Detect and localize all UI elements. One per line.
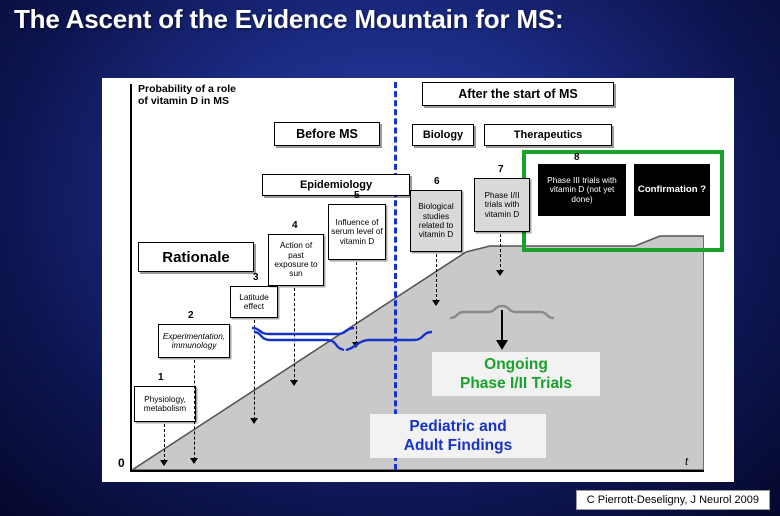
callout-pediatric-adult: Pediatric and Adult Findings	[370, 414, 546, 458]
step-7-connector	[500, 234, 501, 272]
step-2-number: 2	[188, 310, 194, 321]
header-after-ms: After the start of MS	[422, 82, 614, 106]
step-2-arrowhead	[190, 458, 198, 464]
callout-ongoing-line1: Ongoing	[440, 355, 592, 374]
step-7-arrowhead	[496, 270, 504, 276]
header-epidemiology: Epidemiology	[262, 174, 410, 196]
before-after-divider	[394, 82, 397, 470]
step-1-connector	[164, 424, 165, 462]
step-1-number: 1	[158, 372, 164, 383]
step-4-connector	[294, 288, 295, 382]
step-3-box: Latitude effect	[230, 286, 278, 318]
citation-credit: C Pierrott-Deseligny, J Neurol 2009	[576, 490, 770, 510]
step-2-box: Experimentation, immunology	[158, 324, 230, 358]
step-7-box: Phase I/II trials with vitamin D	[474, 178, 530, 232]
step-4-box: Action of past exposure to sun	[268, 234, 324, 286]
step-4-arrowhead	[290, 380, 298, 386]
step-6-arrowhead	[432, 300, 440, 306]
step-6-number: 6	[434, 176, 440, 187]
step-1-box: Physiology, metabolism	[134, 386, 196, 422]
step-6-box: Biological studies related to vitamin D	[410, 190, 462, 252]
evidence-mountain-figure: Probability of a role of vitamin D in MS…	[102, 78, 734, 482]
step-7-number: 7	[498, 164, 504, 175]
step-3-number: 3	[253, 272, 259, 283]
y-axis	[130, 84, 132, 472]
step-3-connector	[254, 320, 255, 420]
step-1-arrowhead	[160, 460, 168, 466]
step-2-connector	[194, 360, 195, 460]
step-5-box: Influence of serum level of vitamin D	[328, 204, 386, 260]
step-5-arrowhead	[352, 342, 360, 348]
callout-pediatric-line2: Adult Findings	[378, 436, 538, 455]
step-5-number: 5	[354, 190, 360, 201]
callout-pediatric-line1: Pediatric and	[378, 417, 538, 436]
header-biology: Biology	[412, 124, 474, 146]
header-before-ms: Before MS	[274, 122, 380, 146]
x-axis	[130, 470, 704, 472]
header-therapeutics: Therapeutics	[484, 124, 612, 146]
x-axis-label: t	[685, 456, 688, 468]
callout-ongoing-trials: Ongoing Phase I/II Trials	[432, 352, 600, 396]
step-5-connector	[356, 262, 357, 344]
step-3-arrowhead	[250, 418, 258, 424]
page-title: The Ascent of the Evidence Mountain for …	[14, 4, 563, 35]
y-axis-label: Probability of a role of vitamin D in MS	[138, 84, 246, 107]
step-8-box: Phase III trials with vitamin D (not yet…	[538, 164, 626, 216]
step-6-connector	[436, 254, 437, 302]
origin-label: 0	[118, 456, 125, 470]
header-rationale: Rationale	[138, 242, 254, 272]
step-4-number: 4	[292, 220, 298, 231]
confirmation-box: Confirmation ?	[634, 164, 710, 216]
step-8-number: 8	[574, 152, 580, 163]
callout-ongoing-line2: Phase I/II Trials	[440, 374, 592, 393]
